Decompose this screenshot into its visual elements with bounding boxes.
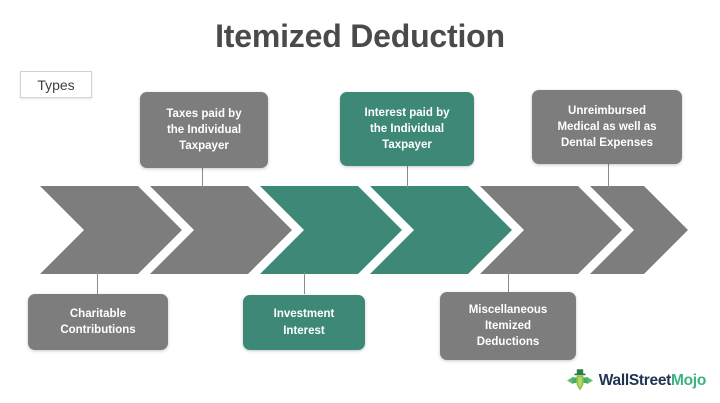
brand-logo[interactable]: WallStreetMojo (567, 367, 706, 395)
brand-name-primary: WallStreet (599, 372, 671, 389)
connector-unreimbursed-medical (608, 164, 609, 188)
wallstreetmojo-bull-icon (567, 368, 593, 394)
chevron-band (34, 186, 694, 274)
callout-unreimbursed-medical[interactable]: Unreimbursed Medical as well as Dental E… (532, 90, 682, 164)
callout-line: Itemized (485, 318, 531, 334)
callout-interest-paid[interactable]: Interest paid by the Individual Taxpayer (340, 92, 474, 166)
callout-line: Dental Expenses (561, 135, 653, 151)
callout-investment-interest[interactable]: Investment Interest (243, 295, 365, 350)
connector-charitable-contributions (97, 272, 98, 294)
callout-line: Interest (283, 323, 325, 339)
chevron-1 (40, 186, 182, 274)
connector-investment-interest (304, 272, 305, 294)
page-title: Itemized Deduction (0, 18, 720, 55)
connector-miscellaneous-itemized (508, 272, 509, 292)
callout-line: Medical as well as (557, 119, 656, 135)
callout-taxes-paid[interactable]: Taxes paid by the Individual Taxpayer (140, 92, 268, 168)
callout-miscellaneous-itemized[interactable]: Miscellaneous Itemized Deductions (440, 292, 576, 360)
callout-line: the Individual (167, 122, 241, 138)
callout-line: Deductions (477, 334, 540, 350)
callout-line: the Individual (370, 121, 444, 137)
callout-line: Unreimbursed (568, 103, 646, 119)
callout-line: Interest paid by (365, 105, 450, 121)
connector-taxes-paid (202, 168, 203, 188)
callout-line: Taxpayer (179, 138, 229, 154)
brand-name-secondary: Mojo (671, 372, 706, 389)
legend-types-label: Types (37, 77, 74, 93)
legend-types-chip: Types (20, 71, 92, 98)
callout-line: Miscellaneous (469, 302, 548, 318)
callout-charitable-contributions[interactable]: Charitable Contributions (28, 294, 168, 350)
connector-interest-paid (407, 166, 408, 188)
infographic-canvas: Itemized Deduction Types Taxes paid by t… (0, 0, 720, 403)
callout-line: Charitable (70, 306, 126, 322)
callout-line: Investment (274, 306, 335, 322)
brand-text: WallStreetMojo (599, 372, 706, 390)
callout-line: Contributions (60, 322, 135, 338)
callout-line: Taxpayer (382, 137, 432, 153)
callout-line: Taxes paid by (166, 106, 241, 122)
